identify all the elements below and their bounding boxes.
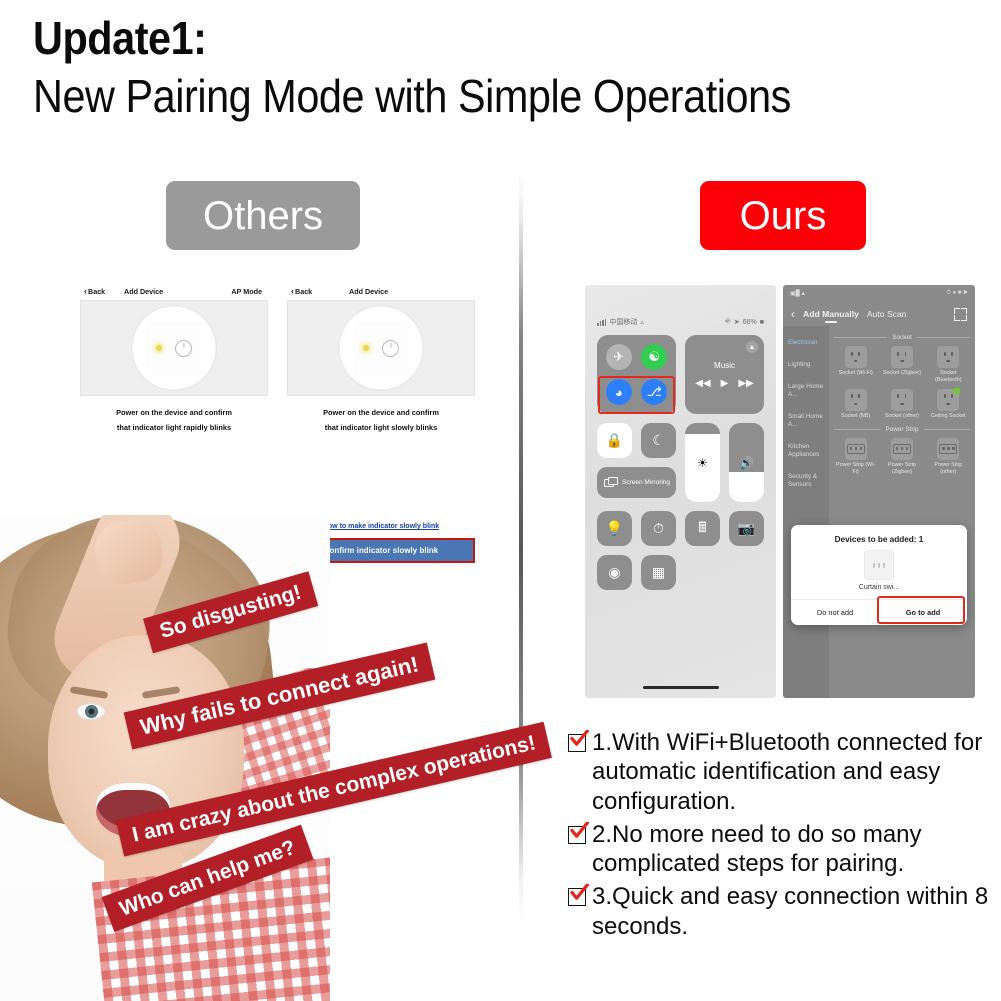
back-label: Back (295, 287, 312, 296)
screen-mirroring-icon (604, 477, 617, 488)
device-label: Socket (other) (885, 413, 919, 420)
screen-record-icon[interactable]: ◉ (597, 555, 632, 590)
tab-add-manually[interactable]: Add Manually (803, 309, 859, 319)
feature-item: 2.No more need to do so many complicated… (568, 820, 993, 879)
battery-percent: 66% (743, 319, 757, 326)
rotation-lock-status-icon: ⎆ (725, 318, 731, 326)
timer-icon[interactable]: ⏱ (641, 511, 676, 546)
ours-badge: Ours (700, 181, 866, 250)
play-icon[interactable]: ▶ (721, 378, 729, 389)
power-button-icon (175, 340, 192, 357)
navbar-title: Add Device (124, 287, 163, 296)
device-circle (131, 305, 217, 391)
device-tile[interactable]: Socket (Bluetooth) (927, 346, 970, 384)
wifi-icon[interactable]: ◕ (606, 379, 632, 405)
socket-icon (891, 346, 913, 368)
dialog-device-name: Curtain swi... (859, 584, 899, 591)
rotation-lock-icon[interactable]: 🔒 (597, 423, 632, 458)
chevron-left-icon: ‹ (291, 287, 294, 296)
volume-slider[interactable]: 🔊 (729, 423, 764, 502)
device-label: Socket (NB) (841, 413, 870, 420)
device-label: Socket (Bluetooth) (927, 370, 970, 384)
add-device-app: ▣▉▲ ⏱ ● ■ ▶ ‹ Add Manually Auto Scan Ele… (783, 285, 975, 698)
power-strip-icon (937, 438, 959, 460)
device-tile[interactable]: Ceiling Socket (927, 389, 970, 420)
devices-to-add-dialog: Devices to be added: 1 Curtain swi... Do… (791, 525, 967, 625)
device-tile[interactable]: Socket (NB) (834, 389, 877, 420)
socket-icon (845, 389, 867, 411)
navbar-title: Add Device (349, 287, 388, 296)
others-badge: Others (166, 181, 360, 250)
power-strip-icon (891, 438, 913, 460)
device-tile[interactable]: Socket (Wi-Fi) (834, 346, 877, 384)
music-title: Music (714, 361, 735, 370)
iris-left (85, 705, 98, 718)
sidebar-item-electrician[interactable]: Electrician (783, 332, 829, 354)
flashlight-icon[interactable]: 💡 (597, 511, 632, 546)
socket-icon (937, 389, 959, 411)
brightness-icon: ☀ (697, 456, 708, 470)
dialog-actions: Do not add Go to add (791, 599, 967, 625)
feature-text: 2.No more need to do so many complicated… (592, 820, 993, 879)
feature-item: 1.With WiFi+Bluetooth connected for auto… (568, 728, 993, 816)
back-label: Back (88, 287, 105, 296)
device-label: Socket (Wi-Fi) (839, 370, 873, 377)
page-subtitle: New Pairing Mode with Simple Operations (33, 70, 897, 123)
feature-list: 1.With WiFi+Bluetooth connected for auto… (568, 728, 993, 945)
app-navbar: ‹ Back Add Device AP Mode (80, 283, 268, 300)
device-tile[interactable]: Power Strip (Zigbee) (880, 438, 923, 476)
power-button-icon (382, 340, 399, 357)
scan-icon[interactable] (954, 308, 967, 321)
instruction-line-1: Power on the device and confirm (80, 406, 268, 421)
section-title: Socket (892, 334, 912, 341)
device-tile[interactable]: Power Strip (Wi-Fi) (834, 438, 877, 476)
promo-page: Update1: New Pairing Mode with Simple Op… (0, 0, 1001, 1001)
signal-bars-icon (597, 319, 606, 326)
others-screenshot-1: ‹ Back Add Device AP Mode Power on the d… (80, 283, 268, 436)
android-status-bar: ▣▉▲ ⏱ ● ■ ▶ (783, 285, 975, 302)
device-illustration (80, 300, 268, 396)
device-label: Power Strip (Wi-Fi) (834, 462, 877, 476)
wifi-status-icon: ▵ (640, 318, 644, 326)
device-tile[interactable]: Socket (other) (880, 389, 923, 420)
app-navbar: ‹ Back Add Device (287, 283, 475, 300)
socket-icon (845, 346, 867, 368)
section-header-socket: Socket (834, 334, 970, 341)
section-header-power-strip: Power Strip (834, 426, 970, 433)
next-track-icon[interactable]: ▶▶ (738, 378, 753, 389)
checkbox-checked-icon (568, 734, 586, 752)
instruction-line-2: that indicator light slowly blinks (287, 421, 475, 436)
qr-scanner-icon[interactable]: ▦ (641, 555, 676, 590)
device-label: Power Strip (Zigbee) (880, 462, 923, 476)
back-button[interactable]: ‹ (791, 307, 795, 321)
status-right-icons: ⏱ ● ■ ▶ (946, 290, 968, 297)
device-label: Socket (Zigbee) (883, 370, 921, 377)
ios-status-bar: 中国移动 ▵ ⎆ ➤ 66% ■ (585, 285, 776, 327)
ios-control-center: 中国移动 ▵ ⎆ ➤ 66% ■ ✈ ☯ ◕ ⎇ (585, 285, 776, 698)
screen-mirroring-tile[interactable]: Screen Mirroring (597, 467, 676, 498)
device-circle (338, 305, 424, 391)
vertical-divider (519, 172, 523, 924)
page-header: Update1: New Pairing Mode with Simple Op… (33, 14, 993, 123)
app-navbar: ‹ Add Manually Auto Scan (783, 302, 975, 326)
volume-icon: 🔊 (739, 456, 754, 470)
airplane-mode-icon[interactable]: ✈ (606, 344, 632, 370)
cellular-data-icon[interactable]: ☯ (641, 344, 667, 370)
back-button[interactable]: ‹ Back (291, 287, 312, 296)
instruction-line-2: that indicator light rapidly blinks (80, 421, 268, 436)
others-screenshot-2: ‹ Back Add Device Power on the device an… (287, 283, 475, 436)
power-strip-icon (845, 438, 867, 460)
do-not-disturb-icon[interactable]: ☾ (641, 423, 676, 458)
sidebar-item-small-home-appliances[interactable]: Small Home A... (783, 406, 829, 436)
ours-screenshots: 中国移动 ▵ ⎆ ➤ 66% ■ ✈ ☯ ◕ ⎇ (585, 285, 975, 700)
status-left-icons: ▣▉▲ (790, 290, 806, 297)
feature-text: 3.Quick and easy connection within 8 sec… (592, 882, 993, 941)
battery-icon: ■ (760, 319, 764, 326)
music-widget[interactable]: ▲ Music ◀◀ ▶ ▶▶ (685, 335, 764, 414)
dialog-device: Curtain swi... (791, 550, 967, 599)
curtain-switch-icon (864, 550, 894, 580)
checkbox-checked-icon (568, 888, 586, 906)
back-button[interactable]: ‹ Back (84, 287, 105, 296)
carrier-label: 中国移动 (609, 317, 637, 327)
control-center-grid: ✈ ☯ ◕ ⎇ ▲ Music ◀◀ ▶ ▶▶ (585, 327, 776, 590)
brightness-slider[interactable]: ☀ (685, 423, 720, 502)
new-badge-icon (953, 388, 960, 394)
instruction-line-1: Power on the device and confirm (287, 406, 475, 421)
do-not-add-button[interactable]: Do not add (791, 600, 879, 625)
previous-track-icon[interactable]: ◀◀ (695, 378, 710, 389)
airplay-icon[interactable]: ▲ (746, 341, 758, 353)
indicator-led-icon (156, 345, 162, 351)
sidebar-item-kitchen-appliances[interactable]: Kitchen Appliances (783, 436, 829, 466)
page-title: Update1: (33, 14, 897, 62)
indicator-led-icon (363, 345, 369, 351)
ap-mode-button[interactable]: AP Mode (231, 287, 262, 296)
sidebar-item-large-home-appliances[interactable]: Large Home A... (783, 376, 829, 406)
feature-text: 1.With WiFi+Bluetooth connected for auto… (592, 728, 993, 816)
screen-mirroring-label: Screen Mirroring (622, 479, 670, 486)
connectivity-tile[interactable]: ✈ ☯ ◕ ⎇ (597, 335, 676, 414)
socket-grid: Socket (Wi-Fi) Socket (Zigbee) Socket (B… (834, 346, 970, 419)
socket-icon (891, 389, 913, 411)
go-to-add-button[interactable]: Go to add (879, 600, 967, 625)
sidebar-item-lighting[interactable]: Lighting (783, 354, 829, 376)
instruction-text: Power on the device and confirm that ind… (80, 406, 268, 436)
socket-icon (937, 346, 959, 368)
power-strip-grid: Power Strip (Wi-Fi) Power Strip (Zigbee)… (834, 438, 970, 476)
volume-fill (729, 472, 764, 502)
chevron-left-icon: ‹ (84, 287, 87, 296)
feature-item: 3.Quick and easy connection within 8 sec… (568, 882, 993, 941)
location-icon: ➤ (734, 318, 740, 326)
device-label: Power Strip (other) (927, 462, 970, 476)
bluetooth-icon[interactable]: ⎇ (641, 379, 667, 405)
device-catalog: Socket Socket (Wi-Fi) Socket (Zigbee) (829, 326, 975, 698)
device-tile[interactable]: Socket (Zigbee) (880, 346, 923, 384)
device-label: Ceiling Socket (931, 413, 965, 420)
dialog-title: Devices to be added: 1 (791, 525, 967, 550)
sidebar-item-security-sensors[interactable]: Security & Sensors (783, 466, 829, 496)
device-illustration (287, 300, 475, 396)
checkbox-checked-icon (568, 826, 586, 844)
tab-auto-scan[interactable]: Auto Scan (867, 309, 907, 319)
calculator-icon[interactable]: 🖩 (685, 511, 720, 546)
section-title: Power Strip (885, 426, 918, 433)
instruction-text: Power on the device and confirm that ind… (287, 406, 475, 436)
camera-icon[interactable]: 📷 (729, 511, 764, 546)
home-indicator (643, 686, 719, 689)
category-sidebar: Electrician Lighting Large Home A... Sma… (783, 326, 829, 698)
device-tile[interactable]: Power Strip (other) (927, 438, 970, 476)
